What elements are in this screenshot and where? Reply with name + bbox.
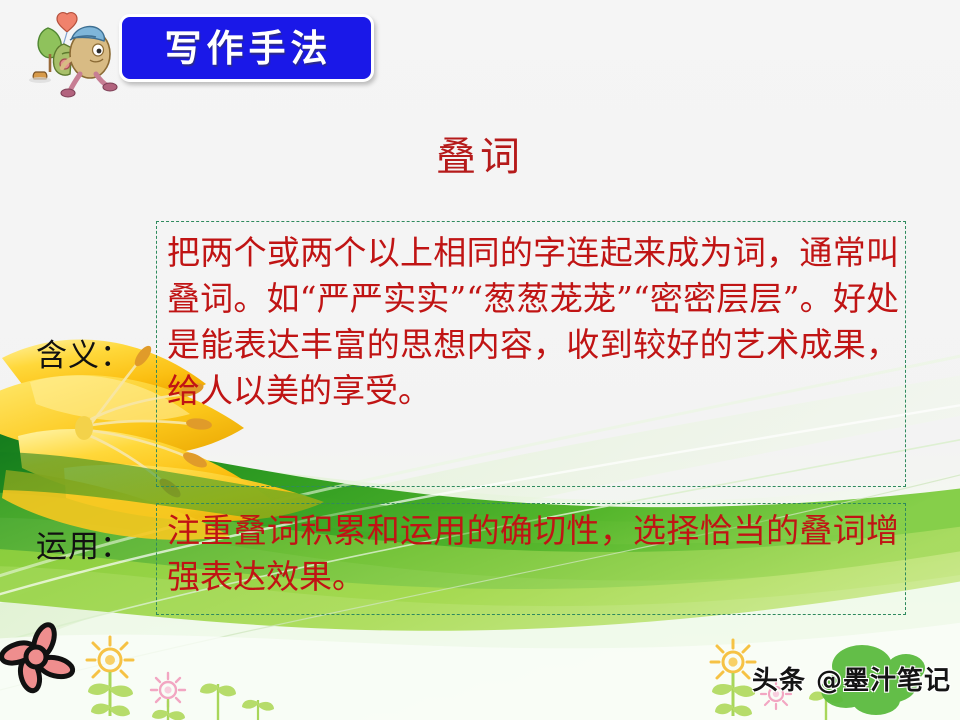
content-box-meaning: 把两个或两个以上相同的字连起来成为词，通常叫叠词。如“严严实实”“葱葱茏茏”“密…: [156, 221, 906, 487]
mascot-illustration: [22, 10, 122, 98]
sprout-decoration: [200, 684, 236, 720]
slide-canvas: 写作手法 叠词 含义： 把两个或两个以上相同的字连起来成为词，通常叫叠词。如“严…: [0, 0, 960, 720]
pink-flower-decoration: [0, 622, 75, 693]
sun-flower-decoration-right: [711, 640, 755, 716]
content-box-usage: 注重叠词积累和运用的确切性，选择恰当的叠词增强表达效果。: [156, 503, 906, 615]
section-label-meaning: 含义：: [36, 330, 132, 375]
sprout-decoration-2: [242, 700, 274, 720]
section-label-usage: 运用：: [36, 521, 132, 566]
section-banner[interactable]: 写作手法: [119, 14, 374, 82]
page-title: 叠词: [0, 124, 960, 182]
watermark-text: 头条 @墨汁笔记: [752, 660, 951, 697]
section-banner-label: 写作手法: [161, 30, 333, 67]
sun-flower-decoration: [87, 637, 133, 716]
content-text-usage: 注重叠词积累和运用的确切性，选择恰当的叠词增强表达效果。: [157, 504, 905, 600]
content-text-meaning: 把两个或两个以上相同的字连起来成为词，通常叫叠词。如“严严实实”“葱葱茏茏”“密…: [157, 222, 905, 414]
small-pink-flower-decoration: [151, 673, 185, 720]
